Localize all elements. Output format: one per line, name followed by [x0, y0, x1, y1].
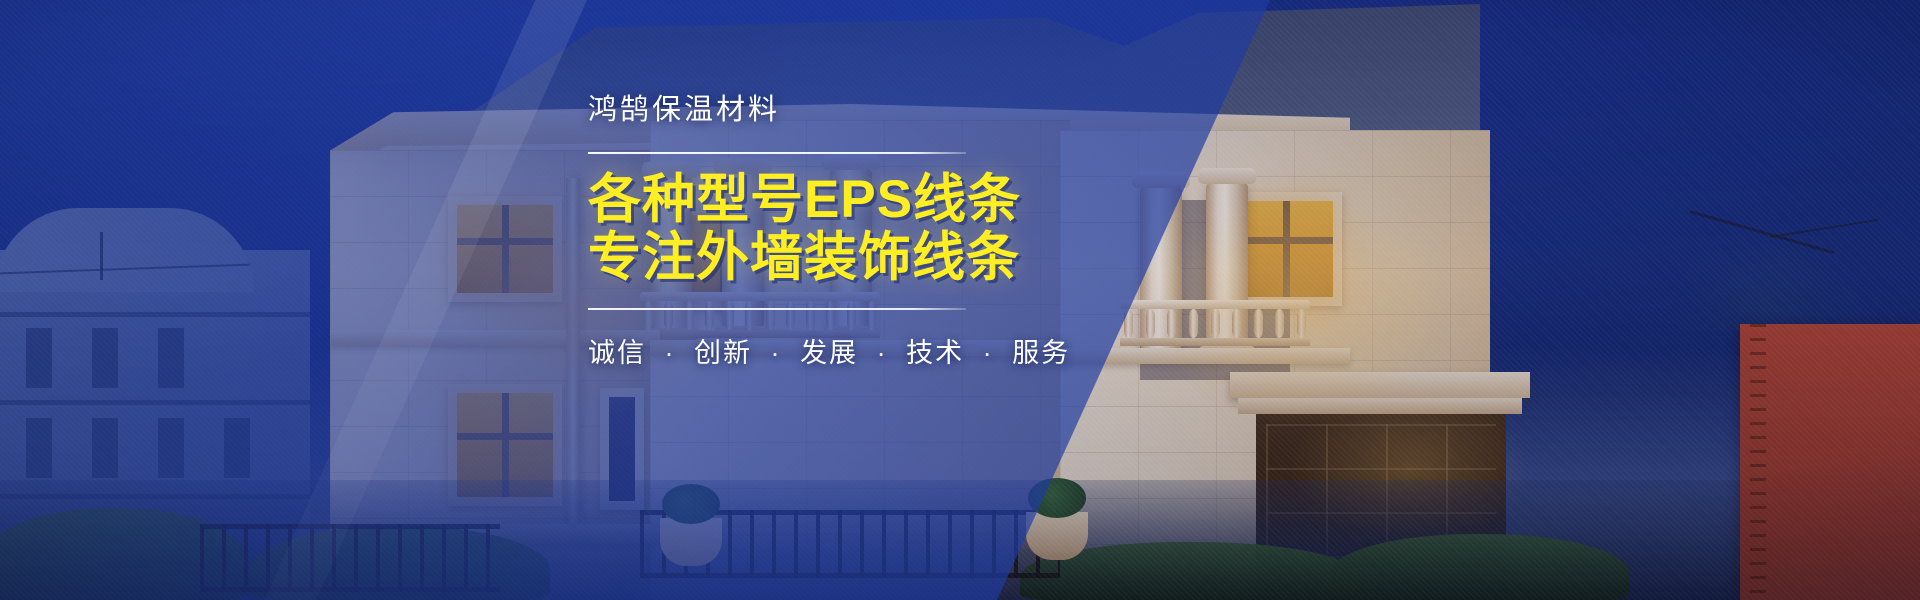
divider-bottom — [588, 308, 966, 310]
slogan-sep-3: · — [877, 338, 888, 368]
headline-line-1: 各种型号EPS线条 — [588, 171, 1008, 229]
slogan-sep-2: · — [771, 338, 782, 368]
headline: 各种型号EPS线条 专注外墙装饰线条 — [588, 171, 1008, 288]
divider-top — [588, 152, 966, 154]
headline-line-2: 专注外墙装饰线条 — [588, 229, 1008, 287]
brand-name: 鸿鹄保温材料 — [588, 96, 1008, 125]
banner-copy-block: 鸿鹄保温材料 各种型号EPS线条 专注外墙装饰线条 诚信 · 创新 · 发展 ·… — [588, 96, 1008, 370]
slogan-item-5: 服务 — [1012, 338, 1070, 368]
slogan-item-4: 技术 — [906, 338, 964, 368]
slogan-item-2: 创新 — [694, 338, 752, 368]
promo-banner: 鸿鹄保温材料 各种型号EPS线条 专注外墙装饰线条 诚信 · 创新 · 发展 ·… — [0, 0, 1920, 600]
slogan-item-1: 诚信 — [588, 338, 646, 368]
slogan-sep-1: · — [665, 338, 676, 368]
slogan-item-3: 发展 — [800, 338, 858, 368]
slogan: 诚信 · 创新 · 发展 · 技术 · 服务 — [588, 331, 1008, 370]
slogan-sep-4: · — [983, 338, 994, 368]
